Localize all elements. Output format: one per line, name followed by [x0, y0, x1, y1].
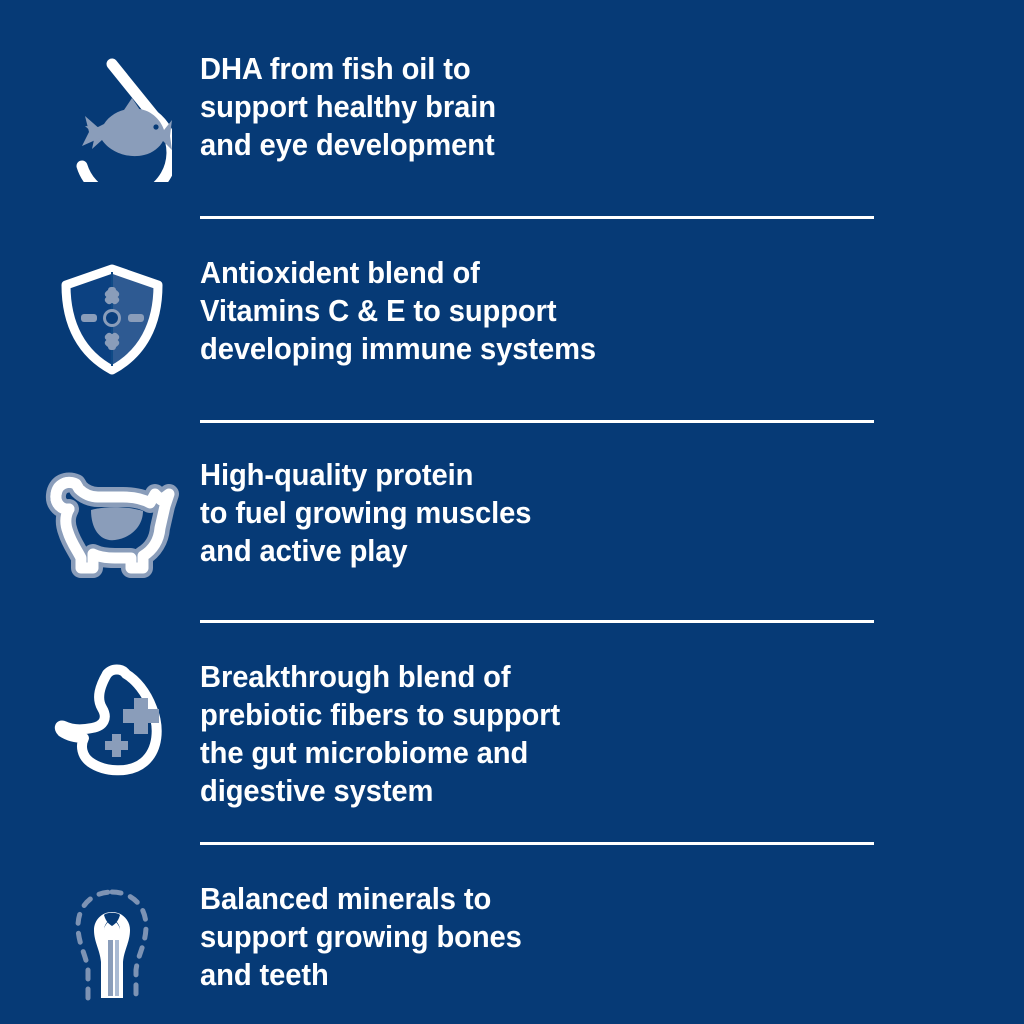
- cat-icon: [43, 458, 181, 580]
- benefit-text: Antioxident blend of Vitamins C & E to s…: [200, 254, 946, 368]
- benefit-row: DHA from fish oil to support healthy bra…: [0, 0, 1024, 182]
- stomach-plus-icon: [50, 664, 174, 780]
- benefit-text-cell: High-quality protein to fuel growing mus…: [200, 456, 1024, 570]
- benefit-text: High-quality protein to fuel growing mus…: [200, 456, 946, 570]
- benefit-icon-cell: [0, 254, 200, 382]
- benefit-text-cell: Breakthrough blend of prebiotic fibers t…: [200, 658, 1024, 810]
- shield-sunburst-icon: [54, 258, 170, 382]
- benefit-icon-cell: [0, 456, 200, 580]
- benefit-text: Balanced minerals to support growing bon…: [200, 880, 946, 994]
- bone-icon: [60, 884, 164, 1006]
- benefits-panel: DHA from fish oil to support healthy bra…: [0, 0, 1024, 1024]
- section-divider: [200, 420, 874, 423]
- divider-spacer: [0, 842, 200, 845]
- benefit-text: DHA from fish oil to support healthy bra…: [200, 50, 946, 164]
- benefit-text-cell: DHA from fish oil to support healthy bra…: [200, 50, 1024, 164]
- divider-wrap: [0, 620, 1024, 623]
- section-divider: [200, 216, 874, 219]
- section-divider: [200, 842, 874, 845]
- benefit-text-cell: Balanced minerals to support growing bon…: [200, 880, 1024, 994]
- benefit-text-cell: Antioxident blend of Vitamins C & E to s…: [200, 254, 1024, 368]
- benefit-icon-cell: [0, 50, 200, 182]
- fish-droplet-icon: [52, 54, 172, 182]
- divider-spacer: [0, 216, 200, 219]
- benefit-icon-cell: [0, 658, 200, 780]
- benefit-text: Breakthrough blend of prebiotic fibers t…: [200, 658, 946, 810]
- benefit-row: Breakthrough blend of prebiotic fibers t…: [0, 623, 1024, 810]
- section-divider: [200, 620, 874, 623]
- divider-spacer: [0, 420, 200, 423]
- divider-wrap: [0, 216, 1024, 219]
- benefit-row: Balanced minerals to support growing bon…: [0, 845, 1024, 1006]
- divider-wrap: [0, 420, 1024, 423]
- divider-wrap: [0, 842, 1024, 845]
- divider-spacer: [0, 620, 200, 623]
- benefit-row: Antioxident blend of Vitamins C & E to s…: [0, 219, 1024, 382]
- benefit-row: High-quality protein to fuel growing mus…: [0, 423, 1024, 580]
- benefit-icon-cell: [0, 880, 200, 1006]
